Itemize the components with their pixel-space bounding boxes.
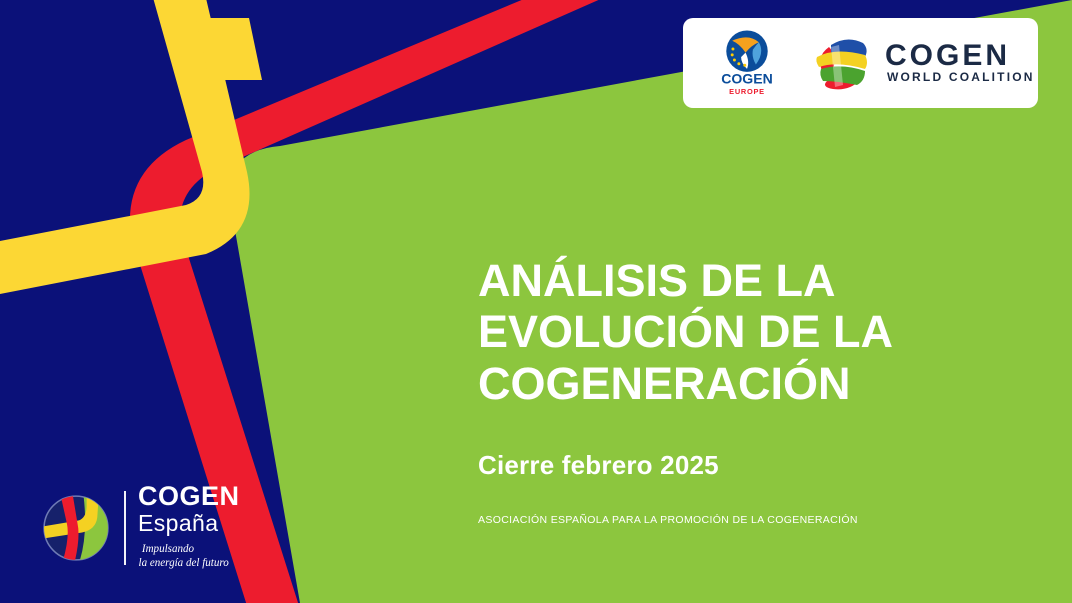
cogen-world-coalition-logo: COGEN WORLD COALITION — [807, 31, 1039, 95]
europe-region-label: EUROPE — [729, 87, 765, 96]
wc-tagline: WORLD COALITION — [887, 70, 1035, 84]
cogen-europe-logo: COGEN EUROPE — [709, 26, 785, 100]
presentation-slide: COGEN EUROPE COGEN WORLD COALITION ANÁLI… — [0, 0, 1072, 603]
page-title: ANÁLISIS DE LA EVOLUCIÓN DE LA COGENERAC… — [478, 255, 948, 409]
espana-tagline: Impulsando la energía del futuro — [138, 539, 258, 573]
wc-wordmark: COGEN — [885, 39, 1010, 72]
cogen-espana-mark-icon — [38, 490, 114, 566]
partner-logo-bar: COGEN EUROPE COGEN WORLD COALITION — [683, 18, 1038, 108]
cogen-espana-logo: COGEN España Impulsando la energía del f… — [38, 483, 258, 573]
europe-wordmark: COGEN — [721, 71, 773, 87]
espana-country-label: España — [138, 512, 258, 535]
espana-brand-name: COGEN — [138, 483, 258, 510]
espana-wordmark: COGEN España Impulsando la energía del f… — [138, 483, 258, 573]
slide-caption: ASOCIACIÓN ESPAÑOLA PARA LA PROMOCIÓN DE… — [478, 514, 858, 526]
logo-divider — [124, 491, 126, 565]
title-block: ANÁLISIS DE LA EVOLUCIÓN DE LA COGENERAC… — [478, 255, 948, 409]
world-globe-icon — [816, 39, 867, 89]
espana-tagline-line2: la energía del futuro — [139, 557, 230, 569]
slide-subtitle: Cierre febrero 2025 — [478, 450, 719, 481]
espana-tagline-line1: Impulsando — [141, 543, 195, 555]
